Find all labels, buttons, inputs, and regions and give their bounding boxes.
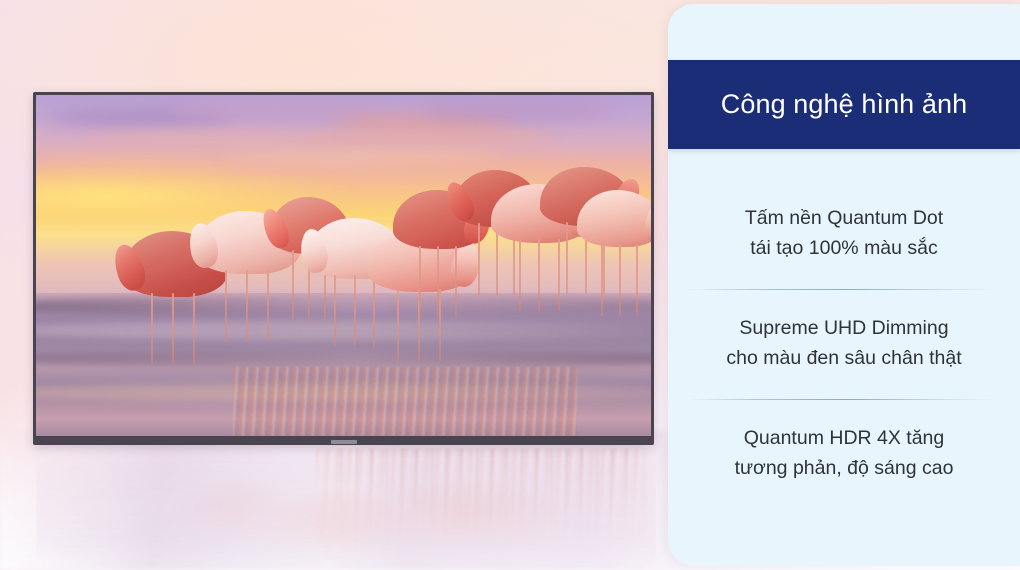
flamingo-flock [36,95,651,436]
promo-banner: Công nghệ hình ảnh Tấm nền Quantum Dot t… [0,0,1020,570]
feature-list: Tấm nền Quantum Dot tái tạo 100% màu sắc… [668,149,1020,566]
info-panel: Công nghệ hình ảnh Tấm nền Quantum Dot t… [668,4,1020,566]
samsung-logo [331,440,357,444]
feature-line-1: Quantum HDR 4X tăng [668,423,1020,453]
feature-line-2: tương phản, độ sáng cao [668,453,1020,483]
feature-item-quantum-hdr: Quantum HDR 4X tăng tương phản, độ sáng … [668,423,1020,483]
tv-screen [36,95,651,436]
feature-divider [688,399,995,400]
feature-divider [688,289,995,290]
page-title: Công nghệ hình ảnh [721,90,968,120]
feature-item-uhd-dimming: Supreme UHD Dimming cho màu đen sâu chân… [668,313,1020,373]
feature-line-2: tái tạo 100% màu sắc [668,233,1020,263]
feature-item-quantum-dot: Tấm nền Quantum Dot tái tạo 100% màu sắc [668,203,1020,263]
panel-header: Công nghệ hình ảnh [668,60,1020,149]
flamingo [577,190,651,279]
tv-reflection [36,448,656,566]
feature-line-1: Supreme UHD Dimming [668,313,1020,343]
television-product-image [33,92,654,445]
feature-line-2: cho màu đen sâu chân thật [668,343,1020,373]
feature-line-1: Tấm nền Quantum Dot [668,203,1020,233]
